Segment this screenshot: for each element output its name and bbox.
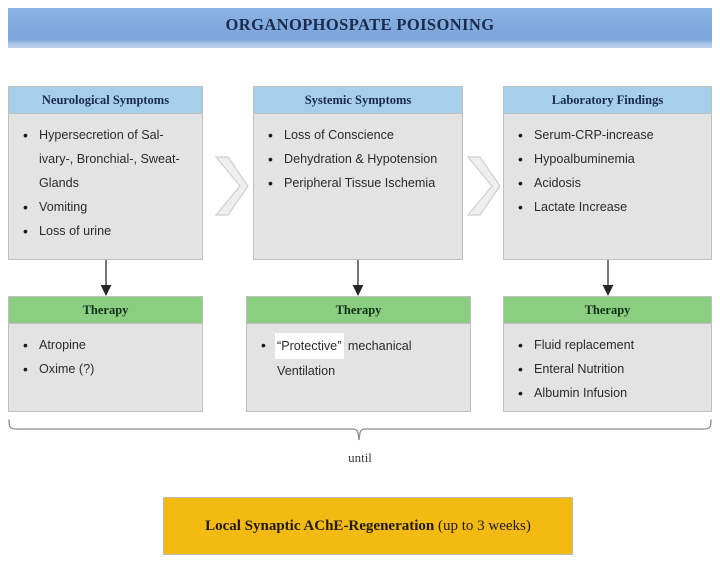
list-item-label: Lactate Increase bbox=[534, 200, 627, 214]
arrow-down-glyph bbox=[600, 260, 616, 298]
panel-body-therapy-2: “Protective” mechanical Ventilation bbox=[247, 324, 470, 411]
list-item: Albumin Infusion bbox=[532, 381, 705, 405]
curly-brace-icon bbox=[0, 415, 720, 455]
list-item-label: Loss of urine bbox=[39, 224, 111, 238]
list-item-label: Acidosis bbox=[534, 176, 581, 190]
arrow-down-icon-3 bbox=[600, 260, 616, 298]
panel-neurological-symptoms: Neurological Symptoms Hypersecretion of … bbox=[8, 86, 203, 260]
arrow-down-glyph bbox=[98, 260, 114, 298]
list-item-label: Oxime (?) bbox=[39, 362, 94, 376]
list-item: Lactate Increase bbox=[532, 195, 705, 219]
flowchart-canvas: ORGANOPHOSPATE POISONING Neurological Sy… bbox=[0, 0, 720, 567]
panel-header-therapy-2: Therapy bbox=[247, 297, 470, 324]
footer-outcome-normal: (up to 3 weeks) bbox=[434, 518, 531, 534]
list-item: Hypersecretion of Sal-ivary-, Bronchial-… bbox=[37, 123, 196, 195]
panel-header-therapy-1: Therapy bbox=[9, 297, 202, 324]
list-item: Fluid replacement bbox=[532, 333, 705, 357]
list-item-label: Fluid replacement bbox=[534, 338, 634, 352]
panel-therapy-laboratory: Therapy Fluid replacement Enteral Nutrit… bbox=[503, 296, 712, 412]
list-item: Oxime (?) bbox=[37, 357, 196, 381]
list-item: Vomiting bbox=[37, 195, 196, 219]
highlighted-phrase: “Protective” bbox=[275, 333, 344, 359]
list-item: Enteral Nutrition bbox=[532, 357, 705, 381]
brace-label: until bbox=[0, 450, 720, 466]
list-item-label: Vomiting bbox=[39, 200, 87, 214]
panel-header-neurological-symptoms: Neurological Symptoms bbox=[9, 87, 202, 114]
list-item-label: Enteral Nutrition bbox=[534, 362, 624, 376]
list-item-label: Hypersecretion of Sal-ivary-, Bronchial-… bbox=[39, 128, 180, 190]
arrow-down-icon-1 bbox=[98, 260, 114, 298]
panel-therapy-neurological: Therapy Atropine Oxime (?) bbox=[8, 296, 203, 412]
panel-header-therapy-3: Therapy bbox=[504, 297, 711, 324]
panel-body-systemic-symptoms: Loss of Conscience Dehydration & Hypoten… bbox=[254, 114, 462, 259]
list-item-label: Serum-CRP-increase bbox=[534, 128, 654, 142]
page-title: ORGANOPHOSPATE POISONING bbox=[8, 15, 712, 35]
list-item: Peripheral Tissue Ischemia bbox=[282, 171, 456, 195]
chevron-right-glyph bbox=[462, 155, 502, 217]
list-item-label: Dehydration & Hypotension bbox=[284, 152, 437, 166]
list-item-label: Albumin Infusion bbox=[534, 386, 627, 400]
list-item-label: Peripheral Tissue Ischemia bbox=[284, 176, 435, 190]
list-item: Hypoalbuminemia bbox=[532, 147, 705, 171]
arrow-down-glyph bbox=[350, 260, 366, 298]
panel-body-therapy-3: Fluid replacement Enteral Nutrition Albu… bbox=[504, 324, 711, 411]
list-item-label: Loss of Conscience bbox=[284, 128, 394, 142]
arrow-down-icon-2 bbox=[350, 260, 366, 298]
list-item: “Protective” mechanical Ventilation bbox=[275, 333, 464, 383]
footer-outcome-text: Local Synaptic AChE-Regeneration (up to … bbox=[205, 514, 531, 538]
curly-brace-glyph bbox=[0, 415, 720, 455]
panel-header-systemic-symptoms: Systemic Symptoms bbox=[254, 87, 462, 114]
panel-systemic-symptoms: Systemic Symptoms Loss of Conscience Deh… bbox=[253, 86, 463, 260]
panel-body-therapy-1: Atropine Oxime (?) bbox=[9, 324, 202, 411]
list-item: Atropine bbox=[37, 333, 196, 357]
chevron-right-icon-2 bbox=[462, 155, 502, 217]
list-item: Acidosis bbox=[532, 171, 705, 195]
panel-body-neurological-symptoms: Hypersecretion of Sal-ivary-, Bronchial-… bbox=[9, 114, 202, 259]
list-item-label: Atropine bbox=[39, 338, 86, 352]
chevron-right-glyph bbox=[210, 155, 250, 217]
list-item: Loss of urine bbox=[37, 219, 196, 243]
panel-therapy-systemic: Therapy “Protective” mechanical Ventilat… bbox=[246, 296, 471, 412]
list-item-label: Hypoalbuminemia bbox=[534, 152, 635, 166]
footer-outcome-bold: Local Synaptic AChE-Regeneration bbox=[205, 518, 434, 534]
chevron-right-icon-1 bbox=[210, 155, 250, 217]
page-title-banner: ORGANOPHOSPATE POISONING bbox=[8, 8, 712, 48]
panel-header-laboratory-findings: Laboratory Findings bbox=[504, 87, 711, 114]
list-item: Loss of Conscience bbox=[282, 123, 456, 147]
panel-laboratory-findings: Laboratory Findings Serum-CRP-increase H… bbox=[503, 86, 712, 260]
list-item: Dehydration & Hypotension bbox=[282, 147, 456, 171]
list-item: Serum-CRP-increase bbox=[532, 123, 705, 147]
footer-outcome-box: Local Synaptic AChE-Regeneration (up to … bbox=[163, 497, 573, 555]
panel-body-laboratory-findings: Serum-CRP-increase Hypoalbuminemia Acido… bbox=[504, 114, 711, 259]
